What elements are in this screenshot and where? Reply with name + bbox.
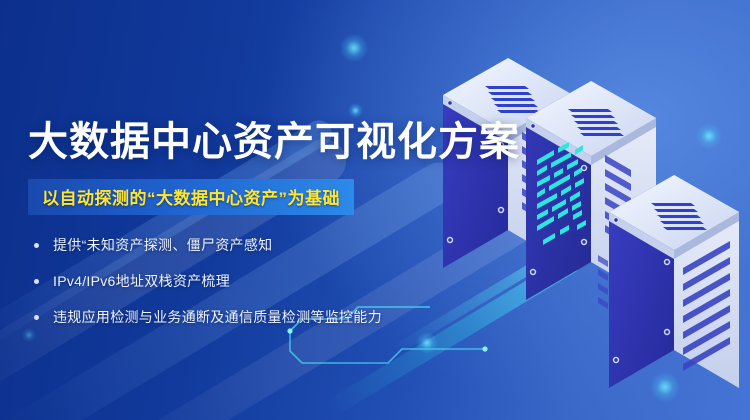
- list-item: 提供“未知资产探测、僵尸资产感知: [28, 235, 458, 255]
- subtitle-badge: 以自动探测的“大数据中心资产”为基础: [28, 179, 354, 215]
- bullet-dot-icon: [34, 279, 39, 284]
- list-item-label: 违规应用检测与业务通断及通信质量检测等监控能力: [53, 307, 382, 327]
- list-item-label: IPv4/IPv6地址双栈资产梳理: [53, 271, 230, 291]
- list-item-label: 提供“未知资产探测、僵尸资产感知: [53, 235, 272, 255]
- page-title: 大数据中心资产可视化方案: [28, 120, 458, 165]
- feature-bullet-list: 提供“未知资产探测、僵尸资产感知 IPv4/IPv6地址双栈资产梳理 违规应用检…: [28, 235, 458, 328]
- bullet-dot-icon: [34, 315, 39, 320]
- glow-particle: [348, 103, 363, 118]
- glow-particle: [340, 34, 368, 62]
- bullet-dot-icon: [34, 243, 39, 248]
- list-item: 违规应用检测与业务通断及通信质量检测等监控能力: [28, 307, 458, 327]
- list-item: IPv4/IPv6地址双栈资产梳理: [28, 271, 458, 291]
- subtitle-badge-label: 以自动探测的“大数据中心资产”为基础: [42, 189, 340, 208]
- server-rack-3: [598, 175, 739, 388]
- server-rack-illustration: [430, 50, 750, 410]
- marketing-banner: 大数据中心资产可视化方案 以自动探测的“大数据中心资产”为基础 提供“未知资产探…: [0, 0, 750, 420]
- banner-text-block: 大数据中心资产可视化方案 以自动探测的“大数据中心资产”为基础 提供“未知资产探…: [28, 120, 458, 344]
